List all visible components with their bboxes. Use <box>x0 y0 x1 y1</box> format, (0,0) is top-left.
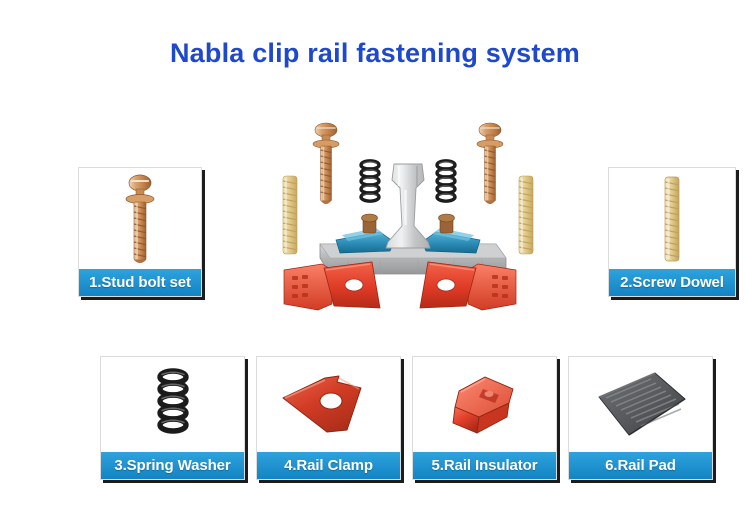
product-card-stud-bolt-set[interactable]: 1.Stud bolt set <box>78 167 202 297</box>
product-card-spring-washer[interactable]: 3.Spring Washer <box>100 356 245 480</box>
assembly-rail-profile <box>386 164 430 248</box>
assembly-stud-bolt-left <box>313 123 339 204</box>
clip-assembly-left <box>284 262 380 310</box>
assembly-screw-dowel-left <box>283 176 297 254</box>
spring-washer-icon <box>101 357 244 452</box>
rail-insulator-icon <box>413 357 556 452</box>
product-card-rail-pad[interactable]: 6.Rail Pad <box>568 356 713 480</box>
rail-clamp-insulator-pair <box>280 258 520 316</box>
assembly-installed-clip-left <box>336 214 394 253</box>
clip-assembly-right <box>420 262 516 310</box>
product-card-rail-insulator[interactable]: 5.Rail Insulator <box>412 356 557 480</box>
poster-canvas: Nabla clip rail fastening system <box>0 0 750 512</box>
product-card-label: 6.Rail Pad <box>569 452 712 479</box>
page-title: Nabla clip rail fastening system <box>0 38 750 69</box>
product-card-label: 3.Spring Washer <box>101 452 244 479</box>
assembly-stud-bolt-right <box>477 123 503 204</box>
rail-pad-icon <box>569 357 712 452</box>
assembly-installed-clip-right <box>422 214 480 253</box>
rail-clamp-icon <box>257 357 400 452</box>
screw-dowel-icon <box>609 168 735 269</box>
assembly-screw-dowel-right <box>519 176 533 254</box>
assembly-spring-washer-left <box>361 161 379 201</box>
product-card-label: 2.Screw Dowel <box>609 269 735 296</box>
stud-bolt-icon <box>79 168 201 269</box>
product-card-label: 4.Rail Clamp <box>257 452 400 479</box>
assembly-spring-washer-right <box>437 161 455 201</box>
product-card-label: 1.Stud bolt set <box>79 269 201 296</box>
product-card-screw-dowel[interactable]: 2.Screw Dowel <box>608 167 736 297</box>
product-card-rail-clamp[interactable]: 4.Rail Clamp <box>256 356 401 480</box>
product-card-label: 5.Rail Insulator <box>413 452 556 479</box>
